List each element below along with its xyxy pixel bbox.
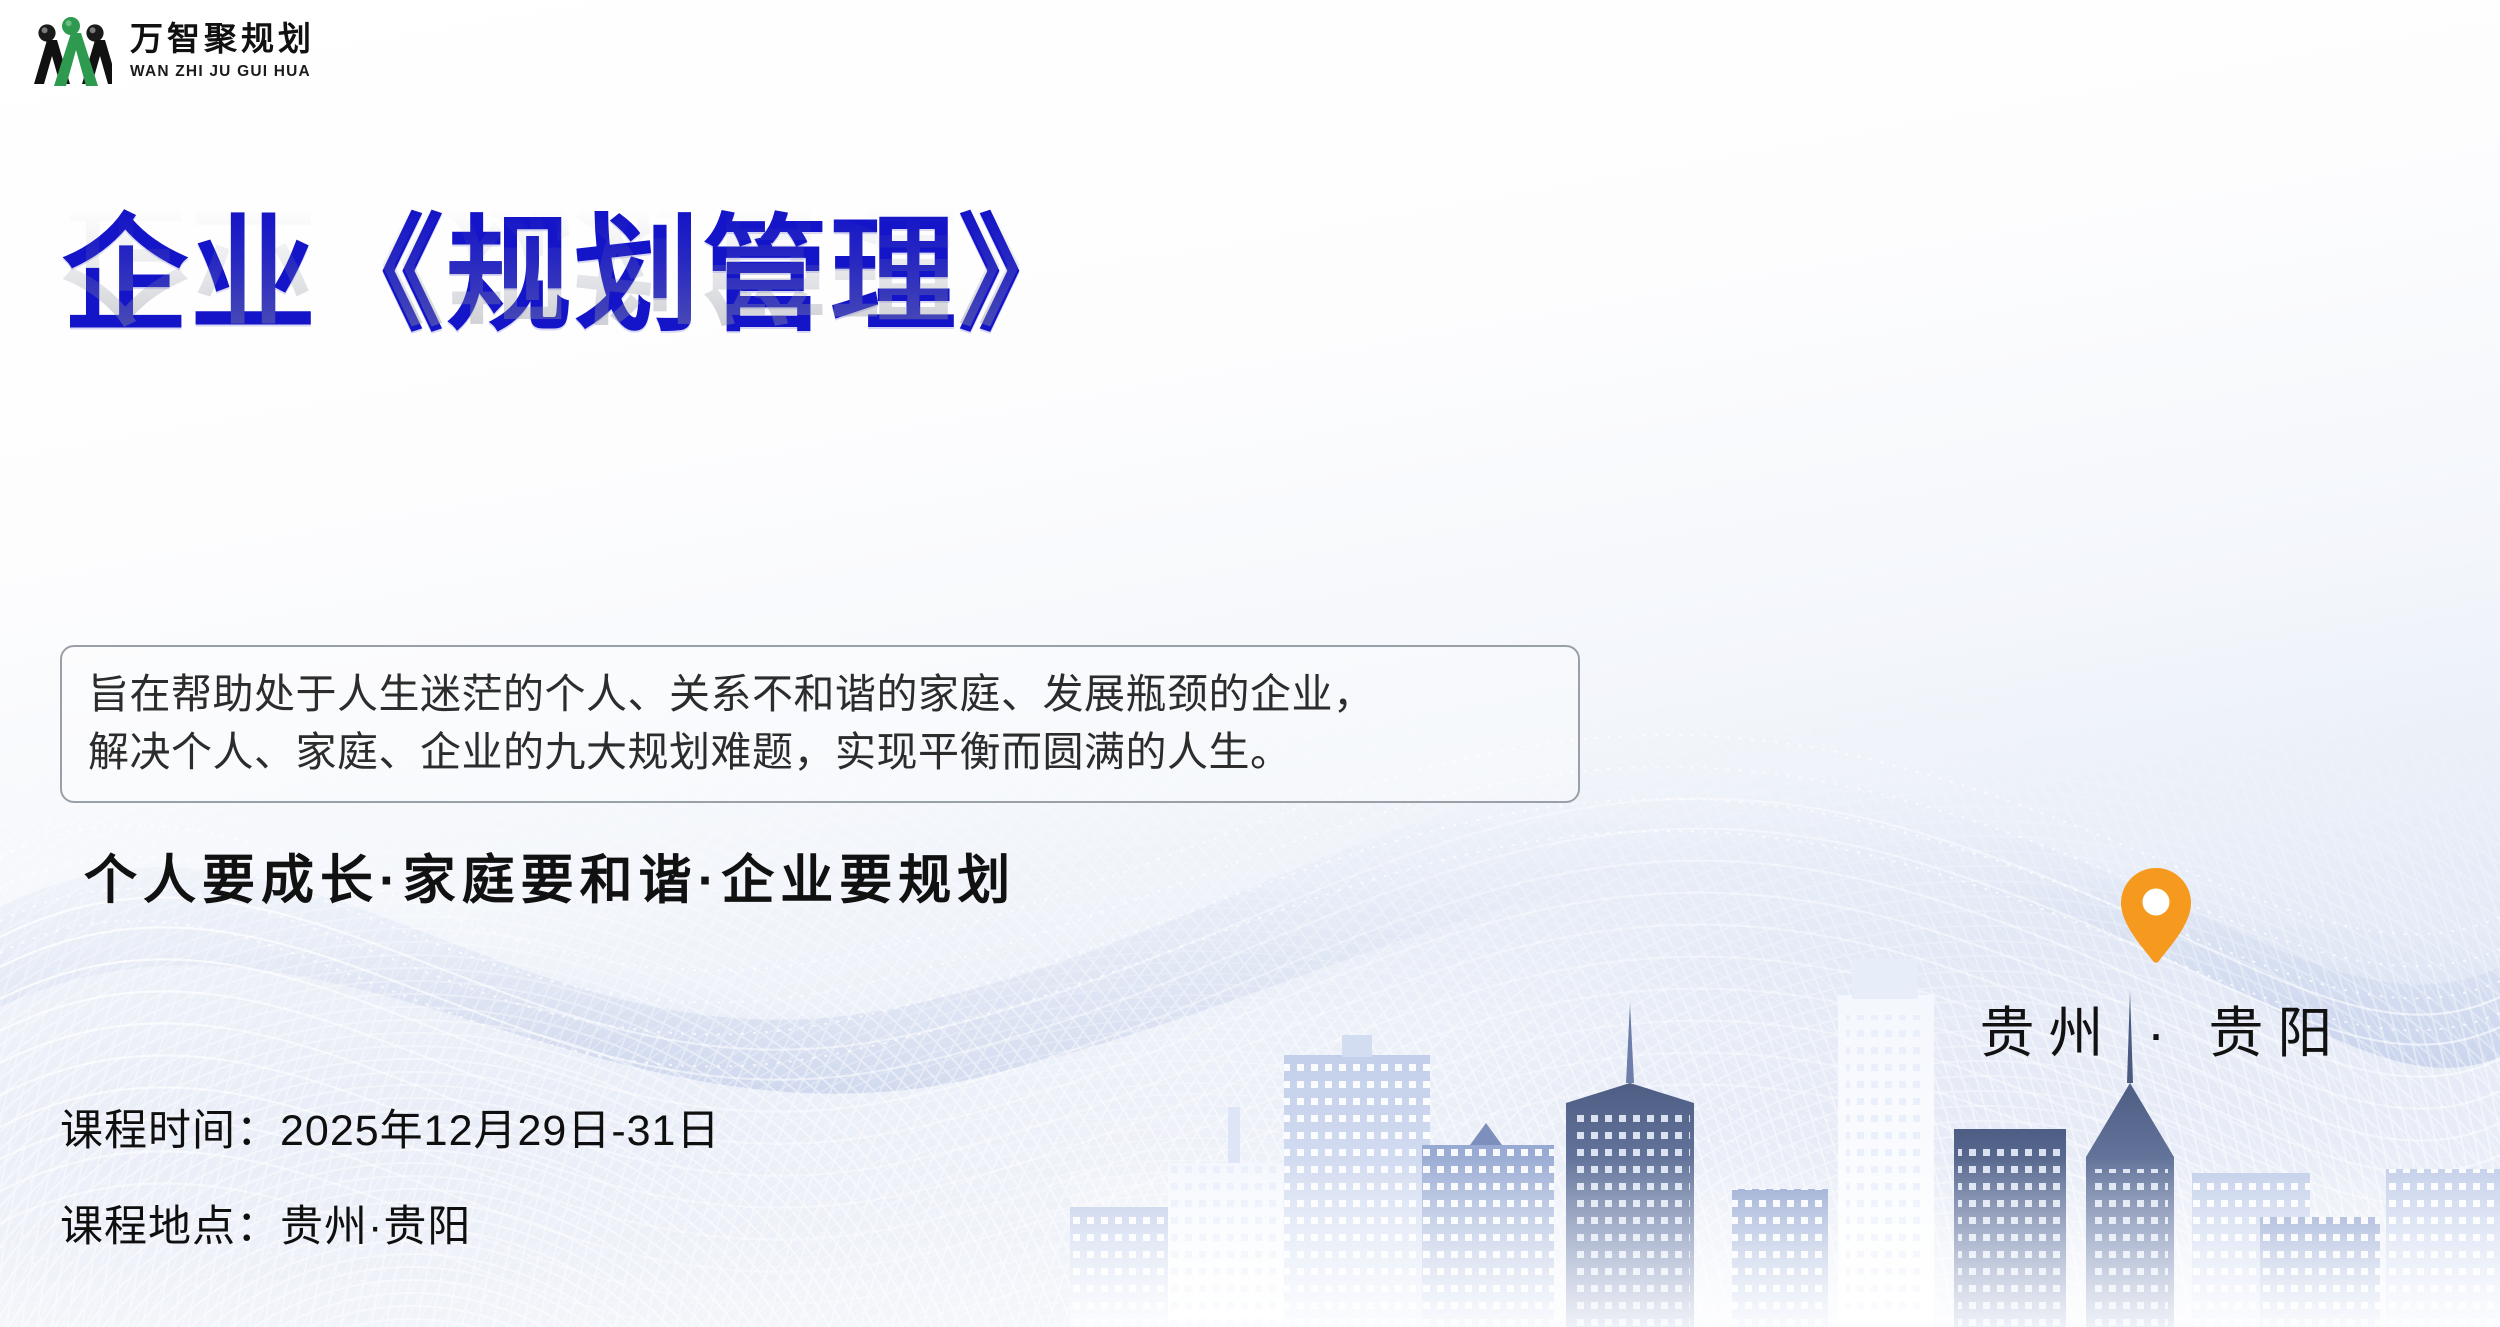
- course-place: 课程地点：贵州·贵阳: [60, 1192, 720, 1254]
- brand-name-pinyin: WAN ZHI JU GUI HUA: [130, 64, 315, 80]
- brand-name-cn: 万智聚规划: [130, 24, 315, 57]
- description-box: 旨在帮助处于人生迷茫的个人、关系不和谐的家庭、发展瓶颈的企业， 解决个人、家庭、…: [60, 645, 1580, 803]
- location-city: 贵州 · 贵阳: [1946, 988, 2366, 1068]
- course-time: 课程时间：2025年12月29日-31日: [60, 1096, 720, 1158]
- description-line-1: 旨在帮助处于人生迷茫的个人、关系不和谐的家庭、发展瓶颈的企业，: [88, 665, 1552, 723]
- course-info: 课程时间：2025年12月29日-31日 课程地点：贵州·贵阳: [60, 1096, 720, 1254]
- three-people-logo-icon: [30, 16, 112, 88]
- map-pin-icon: [2117, 866, 2195, 964]
- brand-logo: 万智聚规划 WAN ZHI JU GUI HUA: [30, 16, 315, 88]
- page-title-reflection: 企业《规划管理》: [62, 192, 1062, 328]
- hero-title-block: 企业《规划管理》 企业《规划管理》: [62, 208, 1062, 464]
- location-badge: 贵州 · 贵阳: [1946, 866, 2366, 1068]
- slogan-text: 个人要成长·家庭要和谐·企业要规划: [84, 838, 1016, 914]
- description-line-2: 解决个人、家庭、企业的九大规划难题，实现平衡而圆满的人生。: [88, 723, 1552, 781]
- poster-canvas: 万智聚规划 WAN ZHI JU GUI HUA 企业《规划管理》 企业《规划管…: [0, 0, 2500, 1327]
